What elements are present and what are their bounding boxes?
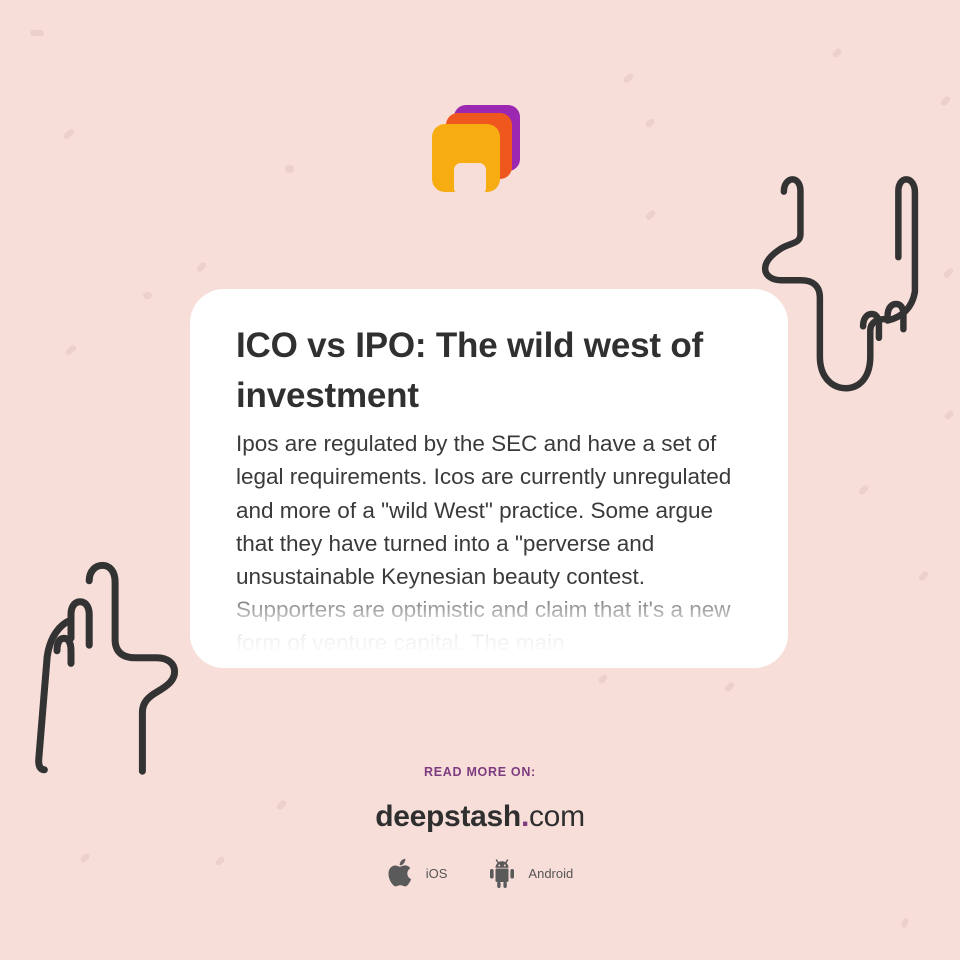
idea-card[interactable]: ICO vs IPO: The wild west of investment … — [190, 289, 788, 668]
confetti-speck — [285, 165, 294, 173]
android-icon — [485, 856, 519, 890]
confetti-speck — [63, 128, 76, 140]
confetti-speck — [900, 917, 909, 928]
footer: READ MORE ON: deepstash.com iOS — [0, 765, 960, 890]
confetti-speck — [943, 409, 954, 420]
idea-body-text: Ipos are regulated by the SEC and have a… — [236, 427, 742, 658]
confetti-speck — [644, 117, 655, 128]
wordmark-tld: com — [529, 800, 585, 833]
confetti-speck — [831, 47, 842, 58]
wordmark-dot: . — [521, 800, 529, 833]
ios-store-badge[interactable]: iOS — [387, 856, 448, 890]
wordmark-name: deepstash — [375, 800, 521, 833]
confetti-speck — [940, 95, 952, 107]
confetti-speck — [857, 484, 869, 496]
read-more-label: READ MORE ON: — [0, 765, 960, 779]
logo-center-hole — [454, 163, 486, 195]
confetti-speck — [64, 344, 77, 356]
deepstash-share-card: ICO vs IPO: The wild west of investment … — [0, 0, 960, 960]
confetti-speck — [143, 292, 152, 299]
android-store-badge[interactable]: Android — [485, 856, 573, 890]
confetti-speck — [195, 261, 207, 273]
deepstash-wordmark[interactable]: deepstash.com — [0, 800, 960, 834]
idea-title: ICO vs IPO: The wild west of investment — [236, 321, 742, 420]
idea-card-content: ICO vs IPO: The wild west of investment … — [190, 289, 788, 659]
deepstash-logo — [430, 105, 520, 197]
confetti-speck — [644, 209, 656, 221]
confetti-speck — [30, 30, 44, 36]
confetti-speck — [622, 72, 634, 84]
apple-icon — [387, 856, 417, 890]
confetti-speck — [597, 673, 608, 684]
android-label: Android — [528, 866, 573, 881]
confetti-speck — [917, 570, 929, 582]
confetti-speck — [723, 681, 735, 693]
logo-layer-front — [432, 124, 500, 192]
app-store-badges: iOS And — [0, 856, 960, 890]
ios-label: iOS — [426, 866, 448, 881]
